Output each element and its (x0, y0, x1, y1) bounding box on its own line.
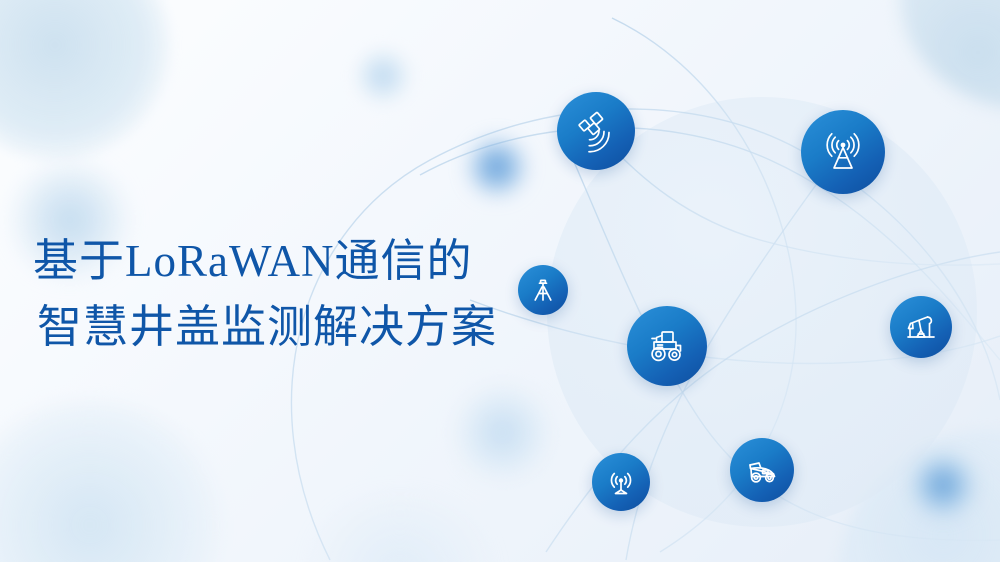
wireless-sensor-icon-node (592, 453, 650, 511)
tractor-icon-node (627, 306, 707, 386)
antenna-tower-icon-node (801, 110, 885, 194)
oil-pumpjack-icon-node (890, 296, 952, 358)
title-line-1: 基于LoRaWAN通信的 (33, 228, 553, 294)
title-slide: 基于LoRaWAN通信的 智慧井盖监测解决方案 (0, 0, 1000, 562)
harvester-icon-node (730, 438, 794, 502)
title-line-2: 智慧井盖监测解决方案 (33, 294, 553, 360)
wireless-sensor-icon (604, 465, 638, 499)
slide-title-block: 基于LoRaWAN通信的 智慧井盖监测解决方案 (33, 228, 553, 360)
satellite-icon (574, 109, 618, 153)
harvester-icon (743, 451, 781, 489)
oil-pumpjack-icon (903, 309, 939, 345)
antenna-tower-icon (819, 128, 867, 176)
satellite-icon-node (557, 92, 635, 170)
tractor-icon (643, 322, 691, 370)
